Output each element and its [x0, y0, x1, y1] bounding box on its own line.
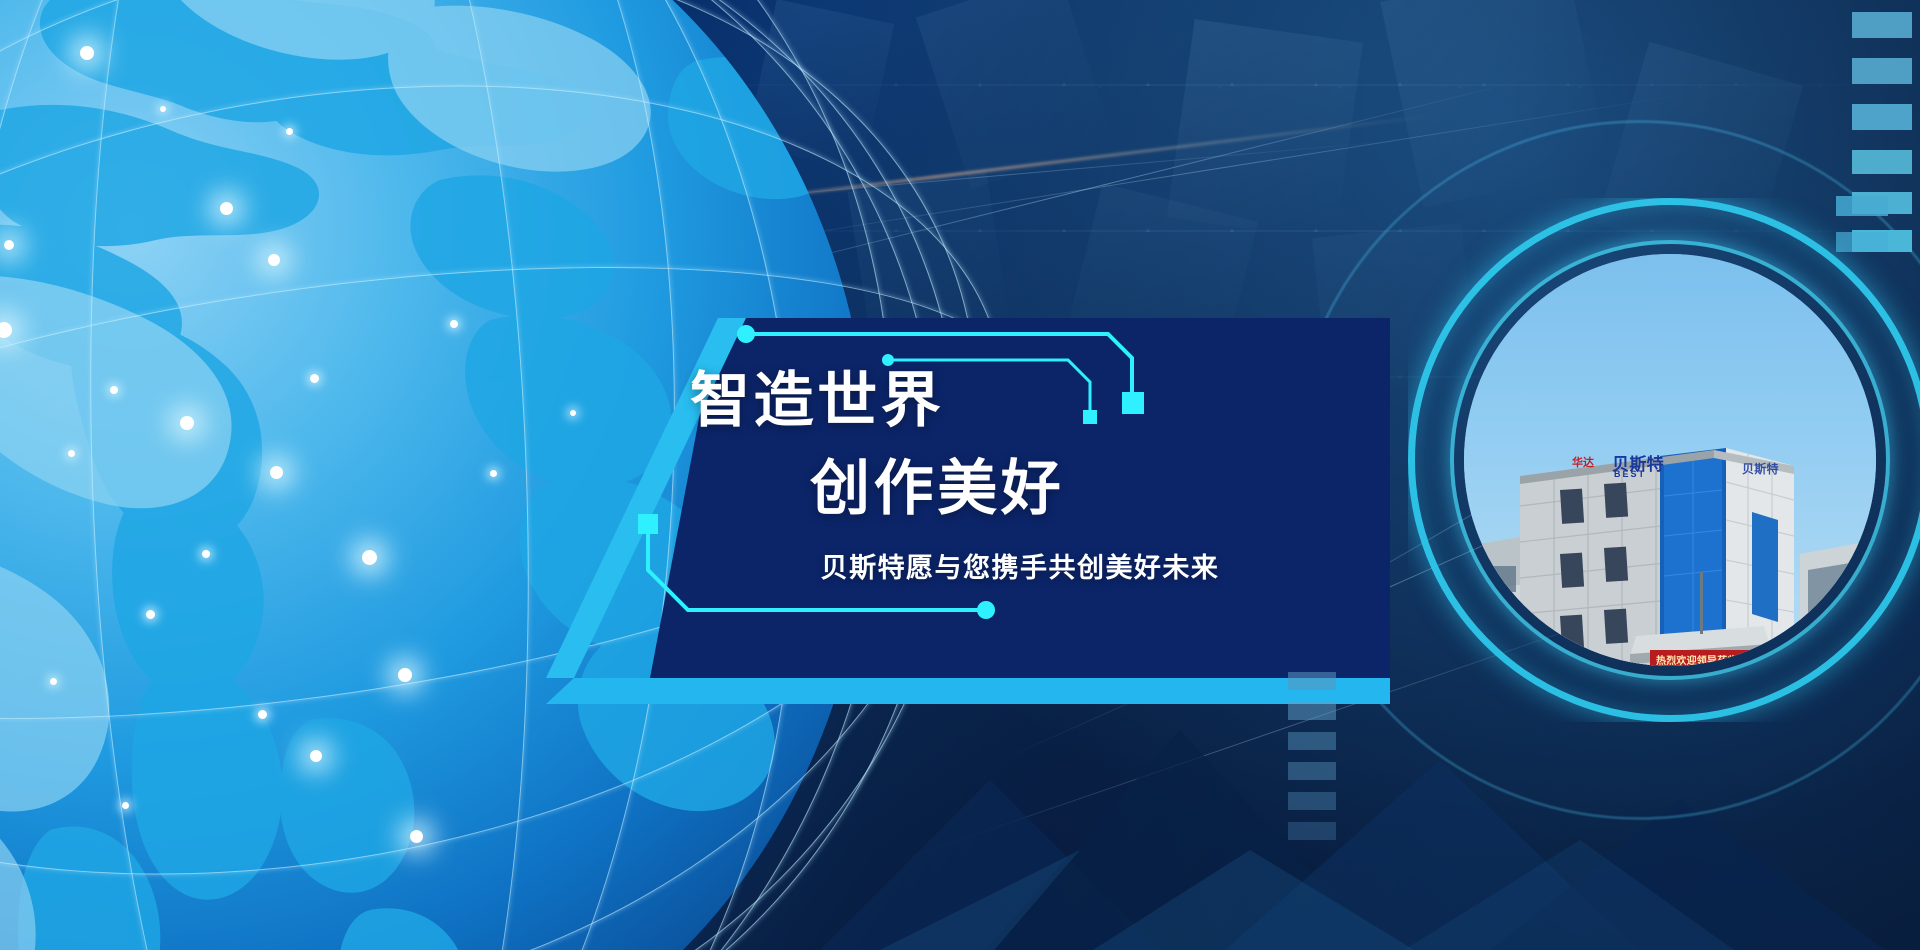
- building-sign-secondary: 贝斯特: [1742, 460, 1779, 477]
- lower-center-tick-stack: [1288, 672, 1348, 852]
- upper-right-small-tick-stack: [1836, 196, 1896, 286]
- headline-panel: 智造世界 创作美好 贝斯特愿与您携手共创美好未来: [650, 318, 1390, 678]
- headline-subtitle: 贝斯特愿与您携手共创美好未来: [690, 546, 1350, 585]
- headline-line-2: 创作美好: [810, 440, 1064, 527]
- panel-bottom-accent-bar: [546, 678, 1390, 704]
- headquarters-photo: 华达 贝斯特 BEST 贝斯特 热烈欢迎领导莅临: [1464, 254, 1876, 666]
- headline-text-block: 智造世界 创作美好 贝斯特愿与您携手共创美好未来: [650, 318, 1390, 678]
- building-sign-english: BEST: [1614, 469, 1646, 479]
- building-sign-mark: 华达: [1572, 454, 1594, 470]
- entrance-welcome-banner: 热烈欢迎领导莅临: [1656, 652, 1738, 666]
- corporate-hero-banner: 智造世界 创作美好 贝斯特愿与您携手共创美好未来: [0, 0, 1920, 950]
- headline-line-1: 智造世界: [690, 352, 944, 439]
